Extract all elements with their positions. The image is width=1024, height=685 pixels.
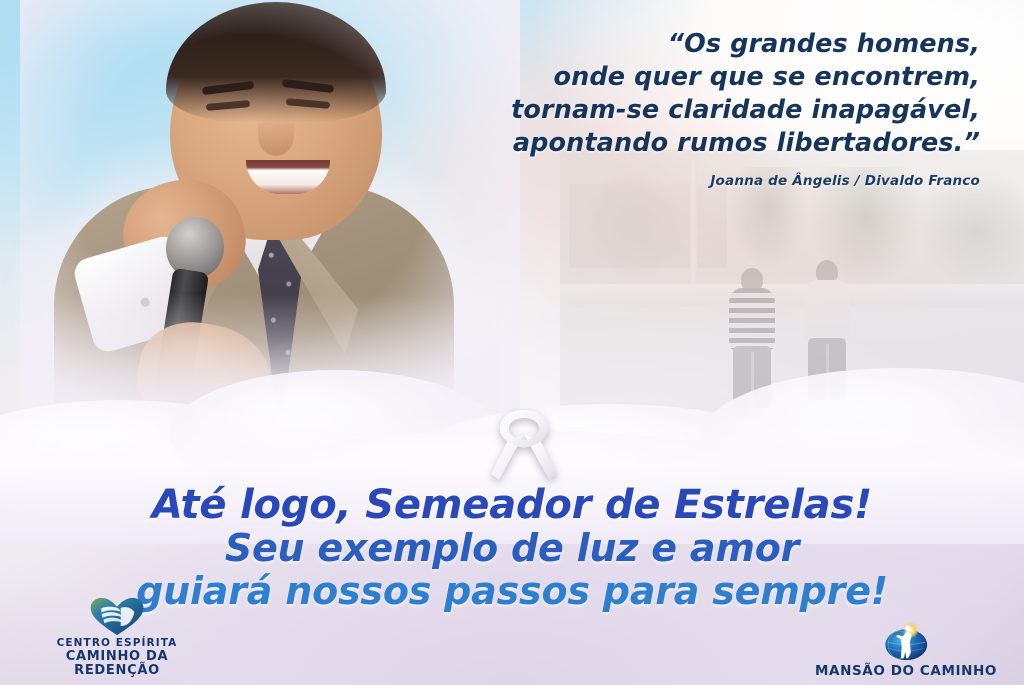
globe-figure-icon (879, 622, 934, 662)
logo-right-line-2: MANSÃO DO CAMINHO (815, 664, 997, 679)
headline-line-2: Seu exemplo de luz e amor (0, 528, 1024, 568)
photo-building (569, 184, 727, 268)
quote-attribution: Joanna de Ângelis / Divaldo Franco (420, 173, 980, 191)
logo-centro-espirita: CENTRO ESPÍRITA CAMINHO DA REDENÇÃO (22, 596, 212, 679)
quote-line-2: onde quer que se encontrem, (420, 61, 980, 94)
quote-line-3: tornam-se claridade inapagável, (420, 94, 980, 127)
logo-mansao-do-caminho: MANSÃO DO CAMINHO (806, 622, 1006, 679)
logo-left-line-2: CAMINHO DA REDENÇÃO (22, 650, 212, 679)
logo-left-text: CENTRO ESPÍRITA CAMINHO DA REDENÇÃO (22, 638, 212, 679)
quote-block: “Os grandes homens, onde quer que se enc… (420, 28, 980, 190)
photo-railing (560, 284, 1024, 309)
logo-right-text: MANSÃO DO CAMINHO (815, 664, 997, 679)
headline-block: Até logo, Semeador de Estrelas! Seu exem… (0, 484, 1024, 611)
quote-line-4: apontando rumos libertadores.” (420, 127, 980, 160)
quote-line-1: “Os grandes homens, (420, 28, 980, 61)
headline-line-1: Até logo, Semeador de Estrelas! (0, 484, 1024, 526)
memorial-poster: “Os grandes homens, onde quer que se enc… (0, 0, 1024, 685)
mourning-ribbon-icon (486, 404, 562, 484)
heart-hands-icon (88, 596, 146, 636)
